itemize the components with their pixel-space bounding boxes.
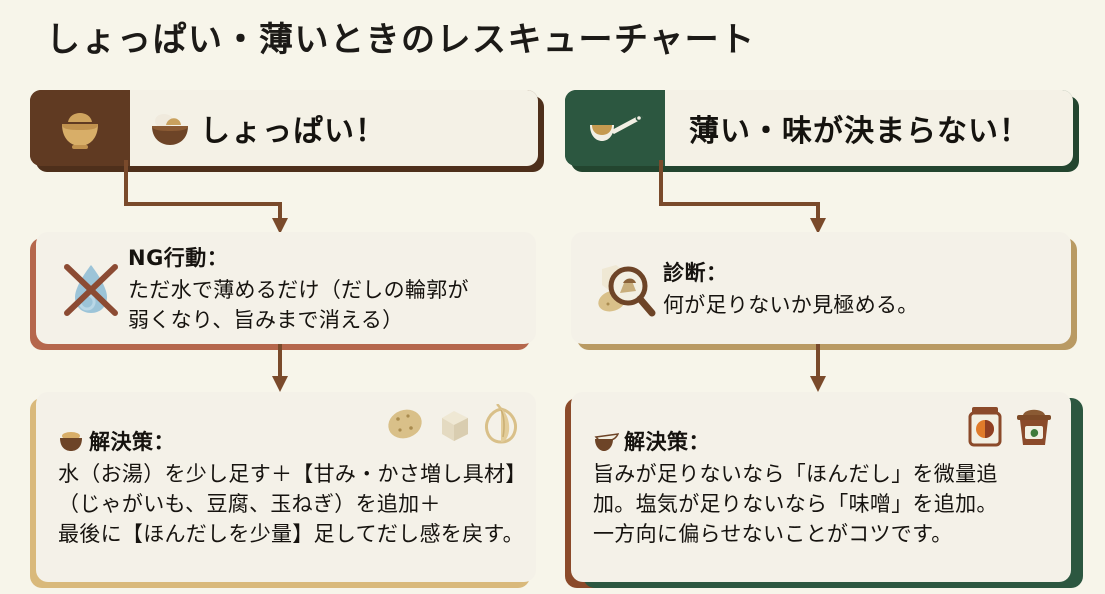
header-body-weak: 薄い・味が決まらない！ [665,90,1073,166]
header-bar-salty[interactable]: しょっぱい！ [30,90,538,166]
header-label-weak: 薄い・味が決まらない！ [689,106,1030,150]
card-line: 加。塩気が足りないなら「味噌」を追加。 [593,490,1053,520]
column-weak: 薄い・味が決まらない！ [565,0,1085,594]
card-line: 最後に【ほんだしを少量】足してだし感を戻す。 [58,520,527,550]
onion-icon [482,404,520,448]
tofu-icon [434,404,474,448]
rice-bowl-icon [58,430,84,452]
salt-bowl-icon [146,108,192,148]
header-tab-salty [30,90,130,166]
card-heading-diagnosis: 診断： [663,257,1053,287]
measuring-spoon-icon [582,103,648,153]
connector-weak-diagnosis-to-solution [565,344,865,396]
dashi-jar-icon [965,404,1005,452]
soup-bowl-icon [593,430,619,452]
ingredient-icons-salty [384,404,520,448]
card-line: 水（お湯）を少し足す＋【甘み・かさ増し具材】 [58,460,527,490]
connector-salty-ng-to-solution [30,344,330,396]
card-ng-action[interactable]: NG行動： ただ水で薄めるだけ（だしの輪郭が 弱くなり、旨みまで消える） [36,232,536,344]
column-salty: しょっぱい！ [30,0,550,594]
card-line: ただ水で薄めるだけ（だしの輪郭が [128,276,518,306]
card-diagnosis[interactable]: 診断： 何が足りないか見極める。 [571,232,1071,344]
potato-icon [384,404,426,448]
header-tab-weak [565,90,665,166]
card-heading-text-solution-salty: 解決策： [89,426,175,456]
card-line: （じゃがいも、豆腐、玉ねぎ）を追加＋ [58,490,527,520]
infographic-canvas: しょっぱい・薄いときのレスキューチャート [0,0,1105,594]
ingredient-icons-weak [965,404,1055,452]
header-body-salty: しょっぱい！ [130,90,538,166]
no-water-icon [54,248,128,330]
miso-tub-icon [1013,404,1055,452]
card-line: 旨みが足りないなら「ほんだし」を微量追 [593,460,1053,490]
connector-weak-header-to-diagnosis [565,160,865,238]
magnifier-ingredients-icon [589,248,663,330]
header-label-salty: しょっぱい！ [200,106,386,150]
card-solution-weak[interactable]: 解決策： 旨みが足りないなら「ほんだし」を微量追 加。塩気が足りないなら「味噌」… [571,392,1071,582]
card-heading-text-diagnosis: 診断： [663,257,728,287]
card-line: 何が足りないか見極める。 [663,291,1053,321]
rice-bowl-icon [50,100,110,156]
card-solution-salty[interactable]: 解決策： 水（お湯）を少し足す＋【甘み・かさ増し具材】 （じゃがいも、豆腐、玉ね… [36,392,536,582]
card-heading-ng: NG行動： [128,242,518,272]
connector-salty-header-to-ng [30,160,330,238]
card-heading-text-ng: NG行動： [128,242,228,272]
card-line: 弱くなり、旨みまで消える） [128,306,518,336]
header-bar-weak[interactable]: 薄い・味が決まらない！ [565,90,1073,166]
card-heading-text-solution-weak: 解決策： [624,426,710,456]
card-line: 一方向に偏らせないことがコツです。 [593,520,1053,550]
